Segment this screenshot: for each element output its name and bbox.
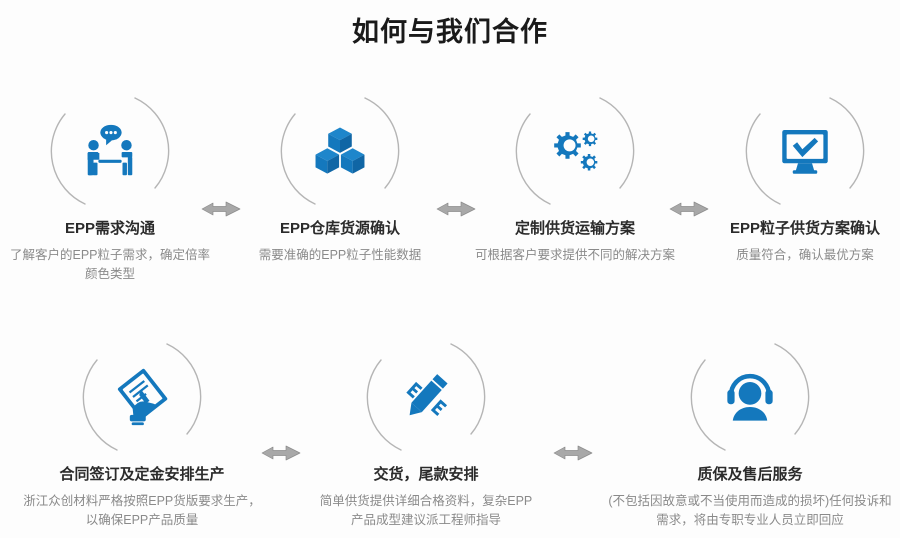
step-1-title: EPP需求沟通 — [4, 218, 216, 240]
step-2-title: EPP仓库货源确认 — [240, 218, 440, 240]
step-3-desc: 可根据客户要求提供不同的解决方案 — [475, 246, 675, 265]
step-6-title: 交货，尾款安排 — [315, 464, 537, 486]
step-4-title: EPP粒子供货方案确认 — [705, 218, 900, 240]
arrow-step6-to-step7 — [552, 442, 596, 464]
step-4-desc: 质量符合，确认最优方案 — [705, 246, 900, 265]
boxes-stack-icon — [277, 88, 403, 214]
step-card-1: EPP需求沟通 了解客户的EPP粒子需求，确定倍率颜色类型 — [4, 88, 216, 284]
step-2-circle — [277, 88, 403, 214]
step-3-title: 定制供货运输方案 — [475, 218, 675, 240]
step-7-circle — [687, 334, 813, 460]
arrow-step2-to-step3 — [435, 198, 479, 220]
headset-support-icon — [687, 334, 813, 460]
step-2-desc: 需要准确的EPP粒子性能数据 — [240, 246, 440, 265]
step-6-circle — [363, 334, 489, 460]
gears-icon — [512, 88, 638, 214]
step-1-desc: 了解客户的EPP粒子需求，确定倍率颜色类型 — [4, 246, 216, 284]
step-7-desc: (不包括因故意或不当使用而造成的损坏)任何投诉和需求，将由专职专业人员立即回应 — [605, 492, 895, 530]
hand-signing-contract-icon — [79, 334, 205, 460]
page-title: 如何与我们合作 — [0, 14, 900, 50]
arrow-step1-to-step2 — [200, 198, 244, 220]
step-3-circle — [512, 88, 638, 214]
step-card-3: 定制供货运输方案 可根据客户要求提供不同的解决方案 — [475, 88, 675, 265]
step-card-7: 质保及售后服务 (不包括因故意或不当使用而造成的损坏)任何投诉和需求，将由专职专… — [605, 334, 895, 530]
step-card-5: 合同签订及定金安排生产 浙江众创材料严格按照EPP货版要求生产，以确保EPP产品… — [22, 334, 262, 530]
step-5-circle — [79, 334, 205, 460]
step-6-desc: 简单供货提供详细合格资料，复杂EPP产品成型建议派工程师指导 — [315, 492, 537, 530]
arrow-step5-to-step6 — [260, 442, 304, 464]
step-7-title: 质保及售后服务 — [605, 464, 895, 486]
pencil-edit-icon — [363, 334, 489, 460]
step-card-2: EPP仓库货源确认 需要准确的EPP粒子性能数据 — [240, 88, 440, 265]
step-card-4: EPP粒子供货方案确认 质量符合，确认最优方案 — [705, 88, 900, 265]
step-5-desc: 浙江众创材料严格按照EPP货版要求生产，以确保EPP产品质量 — [22, 492, 262, 530]
step-1-circle — [47, 88, 173, 214]
step-card-6: 交货，尾款安排 简单供货提供详细合格资料，复杂EPP产品成型建议派工程师指导 — [315, 334, 537, 530]
monitor-check-icon — [742, 88, 868, 214]
meeting-discussion-icon — [47, 88, 173, 214]
step-5-title: 合同签订及定金安排生产 — [22, 464, 262, 486]
step-4-circle — [742, 88, 868, 214]
